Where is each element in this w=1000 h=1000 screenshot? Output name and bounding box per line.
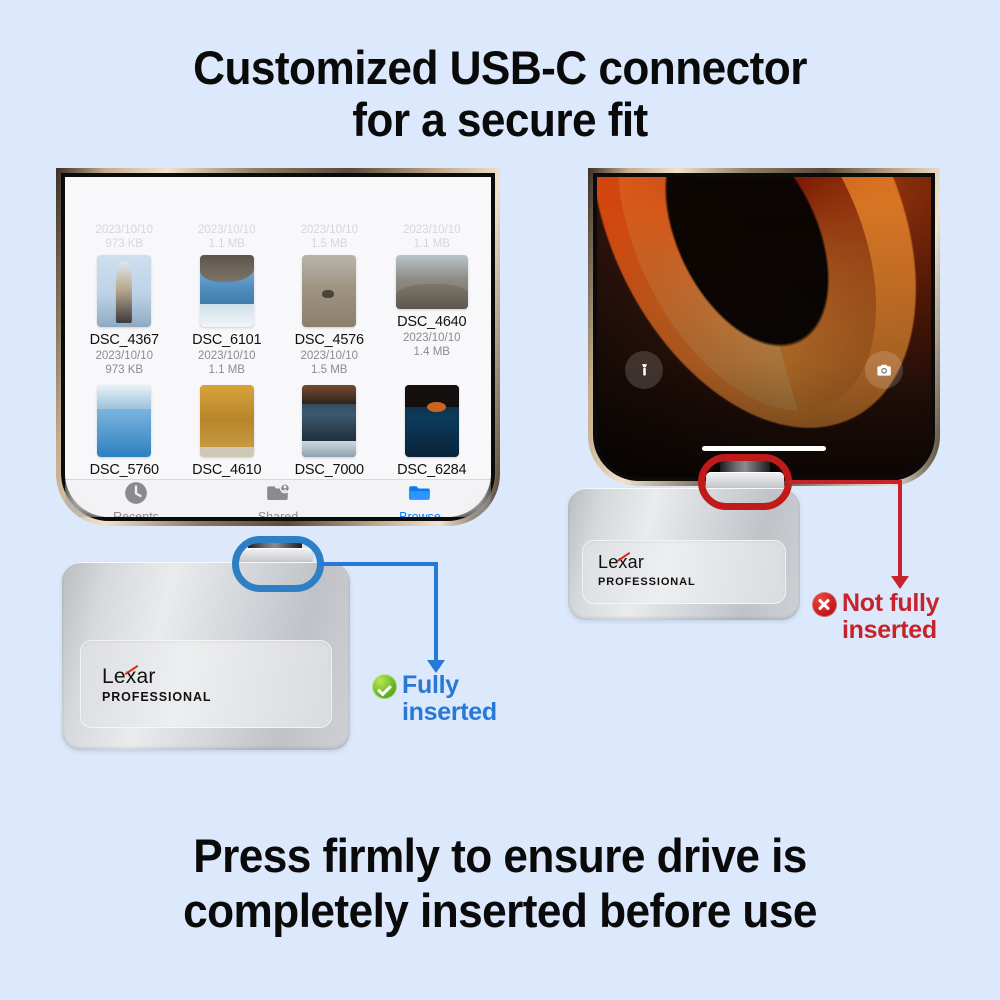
lexar-brand: Lexar PROFESSIONAL <box>102 666 211 704</box>
page-caption: Press firmly to ensure drive is complete… <box>30 828 970 938</box>
file-cell[interactable]: DSC_5760 <box>73 377 176 479</box>
file-name: DSC_6101 <box>192 332 261 349</box>
check-badge-icon <box>372 674 397 699</box>
file-date: 2023/10/10 <box>198 349 256 363</box>
file-thumbnail[interactable] <box>405 385 459 457</box>
lexar-sub-brand: PROFESSIONAL <box>102 690 211 704</box>
camera-icon <box>875 361 894 380</box>
callout-line-1: Fully <box>402 671 459 699</box>
phone-left-screen: 2023/10/10 973 KB DSC_4367 2023/10/10 97… <box>65 177 491 517</box>
file-date: 2023/10/10 <box>95 349 153 363</box>
file-cell[interactable]: DSC_4610 <box>176 377 279 479</box>
fully-inserted-callout: Fully inserted <box>372 672 497 726</box>
file-cell[interactable]: 2023/10/10 1.1 MB DSC_6101 2023/10/10 1.… <box>176 177 279 377</box>
callout-line-2: inserted <box>842 616 937 644</box>
clipped-file-meta: 2023/10/10 1.1 MB <box>403 223 461 251</box>
phone-left: 2023/10/10 973 KB DSC_4367 2023/10/10 97… <box>56 168 500 526</box>
file-date: 2023/10/10 <box>300 349 358 363</box>
file-name: DSC_6284 <box>397 462 466 479</box>
file-thumbnail[interactable] <box>97 255 151 327</box>
file-cell[interactable]: DSC_7000 <box>278 377 381 479</box>
file-thumbnail[interactable] <box>200 385 254 457</box>
phone-right <box>588 168 940 486</box>
file-cell[interactable]: 2023/10/10 973 KB DSC_4367 2023/10/10 97… <box>73 177 176 377</box>
file-date: 2023/10/10 <box>198 223 256 237</box>
file-date: 2023/10/10 <box>403 223 461 237</box>
file-size: 1.1 MB <box>209 363 245 377</box>
phone-left-bezel: 2023/10/10 973 KB DSC_4367 2023/10/10 97… <box>61 173 495 521</box>
lexar-wordmark: Lexar <box>598 552 644 573</box>
x-badge-icon <box>812 592 837 617</box>
camera-button[interactable] <box>865 351 903 389</box>
not-fully-inserted-text: Not fully inserted <box>842 590 939 644</box>
headline-line-2: for a secure fit <box>30 94 970 146</box>
fully-inserted-ring <box>232 536 324 592</box>
file-name: DSC_4610 <box>192 462 261 479</box>
files-tab-bar: Recents Shared <box>65 479 491 517</box>
lock-screen-wallpaper <box>597 177 931 477</box>
tab-shared[interactable]: Shared <box>207 480 349 517</box>
flashlight-icon <box>636 362 653 379</box>
clipped-file-meta: 2023/10/10 1.5 MB <box>300 223 358 251</box>
file-thumbnail[interactable] <box>200 255 254 327</box>
phone-right-bezel <box>593 173 935 481</box>
ssd-label-panel: Lexar PROFESSIONAL <box>80 640 332 728</box>
not-fully-inserted-ring <box>698 454 792 510</box>
lexar-x-accent: x <box>126 665 137 688</box>
fully-inserted-text: Fully inserted <box>402 672 497 726</box>
page-headline: Customized USB-C connector for a secure … <box>30 42 970 146</box>
headline-line-1: Customized USB-C connector <box>193 41 807 94</box>
not-fully-inserted-callout: Not fully inserted <box>812 590 939 644</box>
file-size: 1.1 MB <box>209 237 245 251</box>
clipped-file-meta: 2023/10/10 1.1 MB <box>198 223 256 251</box>
file-thumbnail[interactable] <box>302 255 356 327</box>
shared-folder-icon <box>265 480 291 506</box>
file-size: 1.5 MB <box>311 363 347 377</box>
file-cell[interactable]: 2023/10/10 1.1 MB DSC_4640 2023/10/10 1.… <box>381 177 484 377</box>
lexar-x-accent: x <box>618 552 627 572</box>
file-name: DSC_4367 <box>90 332 159 349</box>
callout-line-2: inserted <box>402 698 497 726</box>
file-date: 2023/10/10 <box>300 223 358 237</box>
phone-right-screen <box>597 177 931 477</box>
lexar-brand: Lexar PROFESSIONAL <box>598 552 696 589</box>
file-size: 973 KB <box>105 237 143 251</box>
home-indicator <box>702 446 826 451</box>
file-date: 2023/10/10 <box>403 331 461 345</box>
file-name: DSC_5760 <box>90 462 159 479</box>
file-cell[interactable]: 2023/10/10 1.5 MB DSC_4576 2023/10/10 1.… <box>278 177 381 377</box>
caption-line-1: Press firmly to ensure drive is <box>193 829 807 882</box>
file-size: 1.5 MB <box>311 237 347 251</box>
product-infographic: Customized USB-C connector for a secure … <box>0 0 1000 1000</box>
file-size: 1.1 MB <box>414 237 450 251</box>
file-size: 1.4 MB <box>414 345 450 359</box>
clock-icon <box>123 480 149 506</box>
file-thumbnail[interactable] <box>97 385 151 457</box>
clipped-file-meta: 2023/10/10 973 KB <box>95 223 153 251</box>
ssd-drive-left: Lexar PROFESSIONAL <box>62 562 350 750</box>
file-cell[interactable]: DSC_6284 <box>381 377 484 479</box>
lexar-wordmark: Lexar <box>102 666 156 687</box>
file-thumbnail[interactable] <box>302 385 356 457</box>
lexar-sub-brand: PROFESSIONAL <box>598 575 696 589</box>
file-name: DSC_7000 <box>295 462 364 479</box>
flashlight-button[interactable] <box>625 351 663 389</box>
file-name: DSC_4640 <box>397 314 466 331</box>
file-grid: 2023/10/10 973 KB DSC_4367 2023/10/10 97… <box>65 177 491 479</box>
tab-browse[interactable]: Browse <box>349 480 491 517</box>
file-name: DSC_4576 <box>295 332 364 349</box>
callout-line-1: Not fully <box>842 589 939 617</box>
file-date: 2023/10/10 <box>95 223 153 237</box>
caption-line-2: completely inserted before use <box>30 883 970 938</box>
tab-label: Browse <box>399 510 441 517</box>
tab-label: Recents <box>113 510 159 517</box>
ssd-body: Lexar PROFESSIONAL <box>62 562 350 750</box>
file-thumbnail[interactable] <box>396 255 468 309</box>
tab-label: Shared <box>258 510 298 517</box>
file-size: 973 KB <box>105 363 143 377</box>
ssd-label-panel: Lexar PROFESSIONAL <box>582 540 786 604</box>
files-app: 2023/10/10 973 KB DSC_4367 2023/10/10 97… <box>65 177 491 517</box>
folder-icon <box>407 480 433 506</box>
tab-recents[interactable]: Recents <box>65 480 207 517</box>
